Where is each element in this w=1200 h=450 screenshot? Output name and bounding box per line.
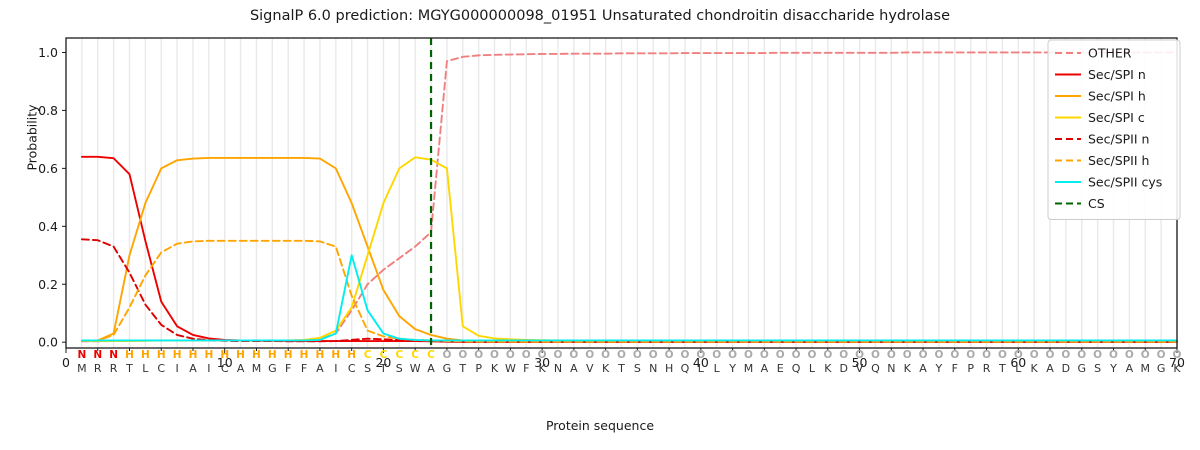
sequence-residue: K: [904, 362, 912, 375]
sequence-residue: K: [491, 362, 499, 375]
region-letter: H: [252, 349, 261, 361]
region-letter: H: [268, 349, 277, 361]
sequence-residue: Y: [728, 362, 736, 375]
sequence-residue: N: [554, 362, 562, 375]
sequence-residue: A: [761, 362, 769, 375]
region-letter: O: [649, 349, 658, 361]
legend-label-cs: CS: [1088, 196, 1105, 211]
sequence-residue: M: [77, 362, 87, 375]
region-letter: O: [665, 349, 674, 361]
region-letter: C: [411, 349, 419, 361]
region-letter: O: [728, 349, 737, 361]
sequence-residue: A: [1126, 362, 1134, 375]
legend-label-sec-spi-h: Sec/SPI h: [1088, 89, 1146, 104]
sequence-residue: G: [1078, 362, 1087, 375]
sequence-residue: R: [983, 362, 991, 375]
region-letter: C: [395, 349, 403, 361]
region-letter: N: [93, 349, 102, 361]
region-letter: O: [934, 349, 943, 361]
signalp-prediction-figure: SignalP 6.0 prediction: MGYG000000098_01…: [0, 0, 1200, 450]
region-letter: O: [458, 349, 467, 361]
region-letter: O: [950, 349, 959, 361]
region-letter: O: [966, 349, 975, 361]
region-letter: O: [490, 349, 499, 361]
region-letter: O: [887, 349, 896, 361]
series-line-sec-spi-n: [82, 157, 1177, 342]
series-line-sec-spi-c: [82, 157, 1177, 341]
sequence-residue: A: [237, 362, 245, 375]
sequence-residue: C: [221, 362, 229, 375]
sequence-residue: K: [1173, 362, 1181, 375]
sequence-residue: R: [94, 362, 102, 375]
sequence-residue: W: [410, 362, 421, 375]
sequence-residue: M: [252, 362, 262, 375]
x-tick-label: 0: [62, 355, 70, 370]
sequence-residue: C: [348, 362, 356, 375]
sequence-residue: T: [617, 362, 625, 375]
sequence-residue: H: [665, 362, 673, 375]
region-letter: O: [903, 349, 912, 361]
sequence-residue: A: [427, 362, 435, 375]
legend-label-sec-spii-n: Sec/SPII n: [1088, 132, 1149, 147]
region-letter: O: [823, 349, 832, 361]
region-letter: H: [173, 349, 182, 361]
region-letter: O: [1109, 349, 1118, 361]
region-letter: O: [855, 349, 864, 361]
sequence-residue: S: [1094, 362, 1101, 375]
legend-label-other: OTHER: [1088, 46, 1132, 61]
region-letter: O: [776, 349, 785, 361]
region-letter: N: [109, 349, 118, 361]
series-line-other: [82, 52, 1177, 341]
region-letter: O: [442, 349, 451, 361]
sequence-residue: T: [998, 362, 1006, 375]
region-letter: C: [364, 349, 372, 361]
sequence-residue: F: [952, 362, 958, 375]
sequence-residue: V: [586, 362, 594, 375]
series-line-sec-spii-cys: [82, 255, 1177, 340]
region-letter: H: [300, 349, 309, 361]
sequence-residue: P: [475, 362, 482, 375]
sequence-residue: A: [919, 362, 927, 375]
region-letter: O: [982, 349, 991, 361]
region-letter: O: [744, 349, 753, 361]
region-letter: O: [1061, 349, 1070, 361]
region-letter: O: [474, 349, 483, 361]
sequence-residue: F: [523, 362, 529, 375]
region-letter: O: [554, 349, 563, 361]
region-letter: O: [681, 349, 690, 361]
sequence-residue: Q: [871, 362, 880, 375]
sequence-residue: T: [125, 362, 133, 375]
sequence-residue: Q: [681, 362, 690, 375]
sequence-residue: T: [458, 362, 466, 375]
region-letter: O: [760, 349, 769, 361]
region-letter: H: [284, 349, 293, 361]
region-letter: O: [1141, 349, 1150, 361]
sequence-residue: K: [539, 362, 547, 375]
sequence-residue: A: [570, 362, 578, 375]
sequence-residue: K: [824, 362, 832, 375]
region-letter: H: [204, 349, 213, 361]
region-letter: C: [427, 349, 435, 361]
region-letter: O: [1157, 349, 1166, 361]
sequence-residue: W: [505, 362, 516, 375]
region-letter: O: [1173, 349, 1182, 361]
sequence-residue: V: [856, 362, 864, 375]
legend-label-sec-spi-n: Sec/SPI n: [1088, 67, 1146, 82]
region-letter: O: [522, 349, 531, 361]
region-letter: O: [839, 349, 848, 361]
region-letter: H: [157, 349, 166, 361]
sequence-residue: I: [334, 362, 337, 375]
legend-label-sec-spii-h: Sec/SPII h: [1088, 153, 1149, 168]
sequence-residue: C: [157, 362, 165, 375]
sequence-residue: N: [649, 362, 657, 375]
region-letter: H: [189, 349, 198, 361]
region-letter: O: [696, 349, 705, 361]
region-letter: O: [1093, 349, 1102, 361]
region-letter: O: [792, 349, 801, 361]
region-letter: O: [807, 349, 816, 361]
y-tick-label: 0.4: [38, 219, 58, 234]
region-letter: H: [220, 349, 229, 361]
series-line-sec-spii-h: [82, 241, 1177, 342]
region-letter: O: [1030, 349, 1039, 361]
region-letter: N: [77, 349, 86, 361]
sequence-residue: Y: [1109, 362, 1117, 375]
sequence-residue: F: [285, 362, 291, 375]
sequence-residue: L: [714, 362, 721, 375]
sequence-residue: I: [207, 362, 210, 375]
region-letter: O: [1077, 349, 1086, 361]
region-letter: O: [1046, 349, 1055, 361]
region-letter: O: [919, 349, 928, 361]
sequence-residue: L: [1015, 362, 1022, 375]
sequence-residue: M: [1141, 362, 1151, 375]
sequence-residue: Q: [792, 362, 801, 375]
y-tick-label: 1.0: [38, 45, 58, 60]
y-tick-label: 0.0: [38, 335, 58, 350]
sequence-residue: L: [698, 362, 705, 375]
region-letter: H: [236, 349, 245, 361]
region-letter: O: [633, 349, 642, 361]
region-letter: H: [331, 349, 340, 361]
sequence-residue: D: [839, 362, 847, 375]
sequence-residue: G: [443, 362, 452, 375]
region-letter: O: [712, 349, 721, 361]
region-letter: H: [347, 349, 356, 361]
sequence-residue: A: [1046, 362, 1054, 375]
sequence-residue: P: [967, 362, 974, 375]
region-letter: H: [141, 349, 150, 361]
y-tick-label: 0.6: [38, 161, 58, 176]
series-line-sec-spi-h: [82, 158, 1177, 342]
sequence-residue: K: [1031, 362, 1039, 375]
region-letter: O: [998, 349, 1007, 361]
plot-canvas: 0.00.20.40.60.81.0010203040506070NMNRNRH…: [0, 0, 1200, 450]
sequence-residue: K: [602, 362, 610, 375]
region-letter: O: [871, 349, 880, 361]
y-tick-label: 0.8: [38, 103, 58, 118]
series-line-sec-spii-n: [82, 239, 1177, 341]
region-letter: O: [1014, 349, 1023, 361]
sequence-residue: D: [1062, 362, 1070, 375]
sequence-residue: S: [634, 362, 641, 375]
sequence-residue: F: [301, 362, 307, 375]
sequence-residue: N: [887, 362, 895, 375]
sequence-residue: L: [142, 362, 149, 375]
region-letter: O: [617, 349, 626, 361]
legend-label-sec-spi-c: Sec/SPI c: [1088, 110, 1145, 125]
y-tick-label: 0.2: [38, 277, 58, 292]
sequence-residue: T: [379, 362, 387, 375]
sequence-residue: R: [110, 362, 118, 375]
region-letter: C: [380, 349, 388, 361]
region-letter: O: [538, 349, 547, 361]
sequence-residue: S: [396, 362, 403, 375]
region-letter: O: [1125, 349, 1134, 361]
region-letter: H: [316, 349, 325, 361]
region-letter: O: [506, 349, 515, 361]
sequence-residue: I: [175, 362, 178, 375]
sequence-residue: G: [1157, 362, 1166, 375]
region-letter: O: [601, 349, 610, 361]
sequence-residue: M: [744, 362, 754, 375]
sequence-residue: A: [189, 362, 197, 375]
sequence-residue: S: [364, 362, 371, 375]
sequence-residue: Y: [935, 362, 943, 375]
region-letter: O: [585, 349, 594, 361]
sequence-residue: A: [316, 362, 324, 375]
region-letter: H: [125, 349, 134, 361]
region-letter: O: [569, 349, 578, 361]
sequence-residue: E: [777, 362, 784, 375]
legend-label-sec-spii-cys: Sec/SPII cys: [1088, 175, 1162, 190]
sequence-residue: G: [268, 362, 277, 375]
sequence-residue: L: [809, 362, 816, 375]
